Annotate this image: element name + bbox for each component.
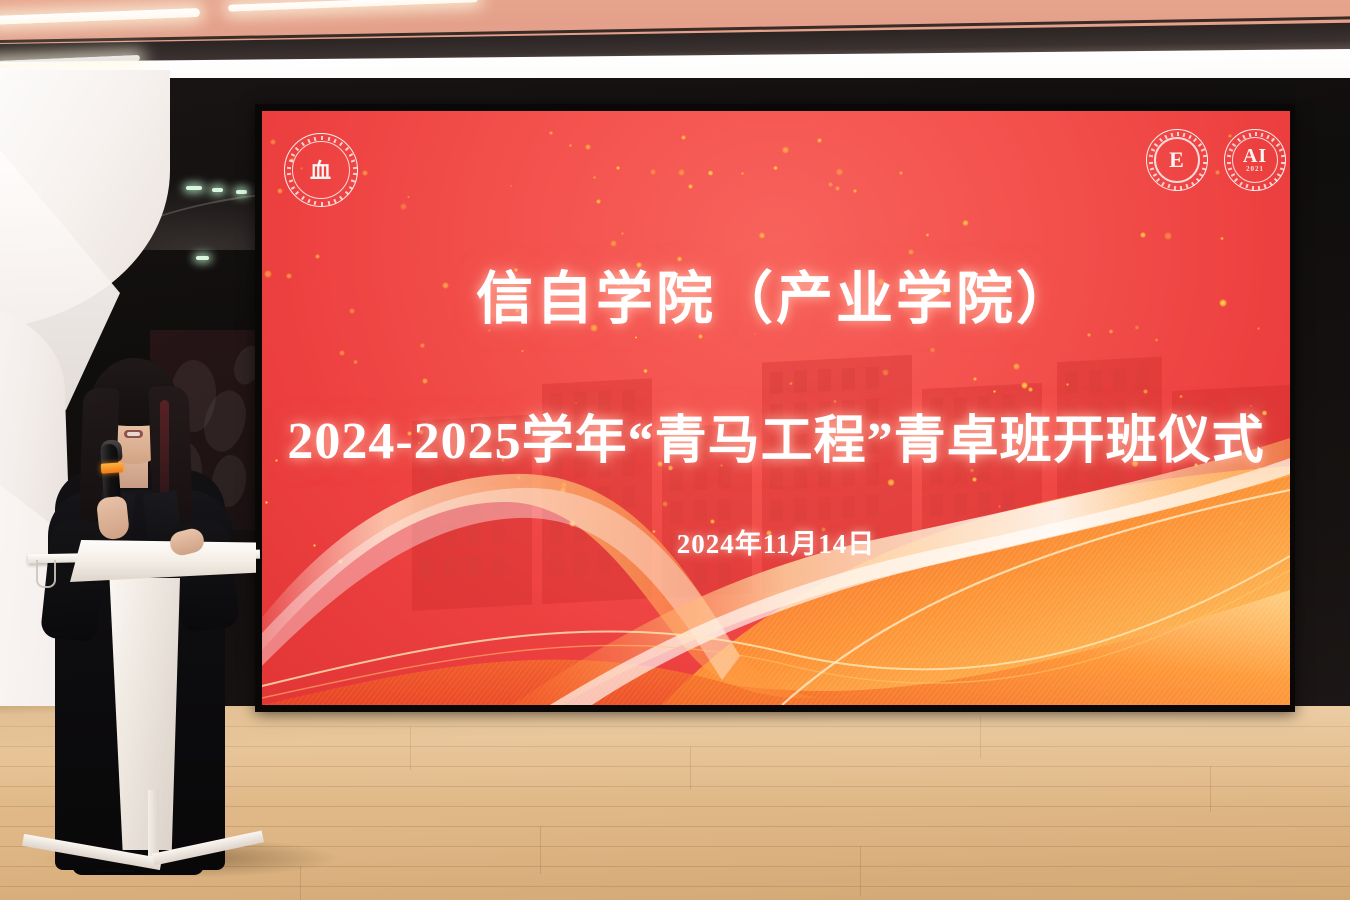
sparkle-particle — [681, 135, 686, 140]
floor-plank-seam — [540, 826, 541, 874]
seal-ring-tick — [351, 159, 355, 162]
screen-event-date: 2024年11月14日 — [262, 522, 1290, 561]
sparkle-particle — [1066, 383, 1069, 386]
seal-ring-tick — [1248, 133, 1251, 137]
seal-ring-tick — [1177, 132, 1179, 136]
seal-ring-tick — [1202, 155, 1206, 158]
seal-ring-tick — [1191, 181, 1195, 185]
building-window — [794, 370, 807, 393]
accreditation-logo-glyph: E — [1169, 147, 1185, 173]
lectern-stem — [148, 790, 159, 862]
seal-ring-tick — [288, 180, 292, 183]
sparkle-particle — [930, 347, 936, 353]
led-screen[interactable]: 血 E AI 2021 信自学院（产业学院） 2024-2025学年“青马工程”… — [262, 111, 1290, 705]
screen-title-line-1: 信自学院（产业学院） — [262, 253, 1290, 335]
seal-ring-tick — [1174, 186, 1176, 190]
seal-ring-tick — [1201, 149, 1205, 152]
seal-ring-tick — [1199, 173, 1203, 177]
spot-light-icon — [196, 256, 209, 260]
spot-light-icon — [212, 188, 223, 192]
screen-title-line-2: 2024-2025学年“青马工程”青卓班开班仪式 — [262, 398, 1290, 473]
sparkle-particle — [422, 378, 428, 384]
seal-ring-tick — [1152, 173, 1156, 177]
sparkle-particle — [1013, 363, 1020, 370]
sparkle-particle — [596, 199, 601, 204]
seal-ring-tick — [1273, 177, 1277, 181]
sparkle-particle — [1021, 382, 1028, 389]
spot-light-icon — [236, 190, 247, 194]
seal-ring-tick — [1230, 173, 1234, 177]
seal-ring-tick — [321, 202, 323, 206]
seal-ring-tick — [288, 159, 292, 162]
seal-ring-tick — [334, 139, 337, 143]
spot-light-icon — [186, 186, 202, 190]
seal-ring-tick — [1193, 138, 1197, 142]
sparkle-particle — [789, 382, 792, 385]
seal-ring-tick — [1277, 173, 1281, 177]
sparkle-particle — [1143, 389, 1148, 394]
sparkle-particle — [593, 176, 596, 179]
seal-ring-tick — [1227, 161, 1231, 163]
seal-ring-tick — [1261, 133, 1264, 137]
sparkle-particle — [616, 166, 620, 170]
seal-ring-tick — [1156, 177, 1160, 181]
sparkle-particle — [270, 139, 276, 145]
seal-ring-tick — [1280, 155, 1284, 158]
seal-ring-tick — [1280, 167, 1284, 170]
speaker-hand-holding-mic — [96, 496, 130, 541]
seal-ring-tick — [1279, 149, 1283, 152]
university-seal-logo: 血 — [284, 133, 358, 207]
sparkle-particle — [882, 369, 889, 376]
building-window — [818, 369, 831, 392]
sparkle-particle — [926, 233, 929, 236]
seal-ring-tick — [1186, 184, 1189, 188]
seal-ring-tick — [1227, 155, 1231, 158]
seal-ring-tick — [1258, 186, 1260, 190]
ai-industry-college-logo: AI 2021 — [1224, 129, 1286, 191]
seal-ring-tick — [1255, 132, 1257, 136]
seal-ring-tick — [1202, 167, 1206, 170]
building-window — [1113, 368, 1126, 391]
seal-ring-tick — [291, 186, 295, 190]
speaker-mouth-inner — [127, 432, 140, 436]
seal-ring-tick — [1245, 184, 1248, 188]
seal-ring-tick — [348, 153, 352, 157]
seal-ring-tick — [1188, 135, 1192, 139]
sparkle-particle — [521, 350, 523, 352]
seal-ring-tick — [287, 173, 291, 175]
seal-ring-tick — [1271, 138, 1275, 142]
seal-ring-tick — [295, 191, 299, 195]
building-window — [866, 366, 879, 389]
sparkle-particle — [688, 184, 693, 189]
seal-ring-tick — [1150, 167, 1154, 170]
seal-ring-tick — [1180, 186, 1182, 190]
sparkle-particle — [643, 369, 648, 374]
sparkle-particle — [1164, 232, 1172, 240]
sparkle-particle — [1155, 338, 1158, 341]
sparkle-particle — [650, 169, 656, 175]
seal-ring-tick — [1234, 177, 1238, 181]
seal-ring-tick — [1161, 181, 1165, 185]
sparkle-particle — [362, 170, 368, 176]
seal-ring-tick — [353, 166, 357, 168]
building-window — [1137, 367, 1150, 390]
floor-plank-line — [0, 886, 1350, 887]
seal-ring-tick — [1264, 184, 1267, 188]
sparkle-particle — [1228, 134, 1232, 138]
seal-ring-tick — [1269, 181, 1273, 185]
seal-ring-tick — [1281, 161, 1285, 163]
sparkle-particle — [708, 170, 714, 176]
sparkle-particle — [621, 232, 623, 234]
sparkle-particle — [759, 232, 765, 238]
seal-ring-tick — [314, 137, 317, 141]
seal-ring-tick — [1242, 135, 1246, 139]
sparkle-particle — [635, 336, 637, 338]
seal-ring-tick — [1197, 143, 1201, 147]
seal-ring-tick — [1252, 186, 1254, 190]
seal-ring-tick — [327, 137, 330, 141]
seal-ring-tick — [301, 195, 305, 199]
seal-ring-tick — [339, 195, 343, 199]
seal-ring-tick — [1164, 135, 1168, 139]
seal-ring-tick — [321, 136, 323, 140]
seal-ring-tick — [348, 186, 352, 190]
building-window — [770, 371, 783, 394]
photo-scene: 血 E AI 2021 信自学院（产业学院） 2024-2025学年“青马工程”… — [0, 0, 1350, 900]
seal-ring-tick — [1275, 143, 1279, 147]
university-seal-glyph: 血 — [310, 155, 332, 185]
engineering-education-accreditation-logo: E — [1146, 129, 1208, 191]
sparkle-particle — [678, 169, 685, 176]
ai-logo-glyph: AI — [1243, 147, 1267, 165]
seal-ring-tick — [1228, 167, 1232, 170]
seal-ring-tick — [307, 139, 310, 143]
lectern-hook — [36, 560, 56, 588]
seal-ring-tick — [1170, 133, 1173, 137]
seal-ring-tick — [1195, 177, 1199, 181]
sparkle-particle — [817, 138, 822, 143]
seal-ring-tick — [353, 173, 357, 175]
sparkle-particle — [407, 196, 409, 198]
seal-ring-tick — [1149, 155, 1153, 158]
seal-ring-tick — [351, 180, 355, 183]
building-window — [842, 368, 855, 391]
seal-ring-tick — [334, 199, 337, 203]
sparkle-particle — [1220, 237, 1223, 240]
seal-ring-tick — [307, 199, 310, 203]
seal-ring-tick — [1149, 161, 1153, 163]
seal-ring-tick — [1266, 135, 1270, 139]
sparkle-particle — [400, 203, 407, 210]
sparkle-particle — [993, 390, 996, 393]
seal-ring-tick — [1203, 161, 1207, 163]
seal-ring-tick — [1183, 133, 1186, 137]
sparkle-particle — [853, 189, 857, 193]
seal-ring-tick — [339, 142, 343, 146]
seal-ring-tick — [327, 201, 330, 205]
sparkle-particle — [353, 360, 357, 364]
sparkle-particle — [835, 186, 840, 191]
microphone-indicator-light — [101, 462, 124, 474]
seal-ring-tick — [287, 166, 291, 168]
building-window — [1089, 370, 1102, 393]
seal-ring-tick — [1239, 181, 1243, 185]
seal-ring-tick — [1167, 184, 1170, 188]
floor-plank-seam — [860, 846, 861, 896]
sparkle-particle — [962, 220, 969, 227]
seal-ring-tick — [344, 147, 348, 151]
sparkle-particle — [973, 377, 977, 381]
ai-logo-year: 2021 — [1246, 165, 1264, 173]
sparkle-particle — [510, 185, 512, 187]
seal-ring-tick — [314, 201, 317, 205]
seal-ring-tick — [344, 191, 348, 195]
